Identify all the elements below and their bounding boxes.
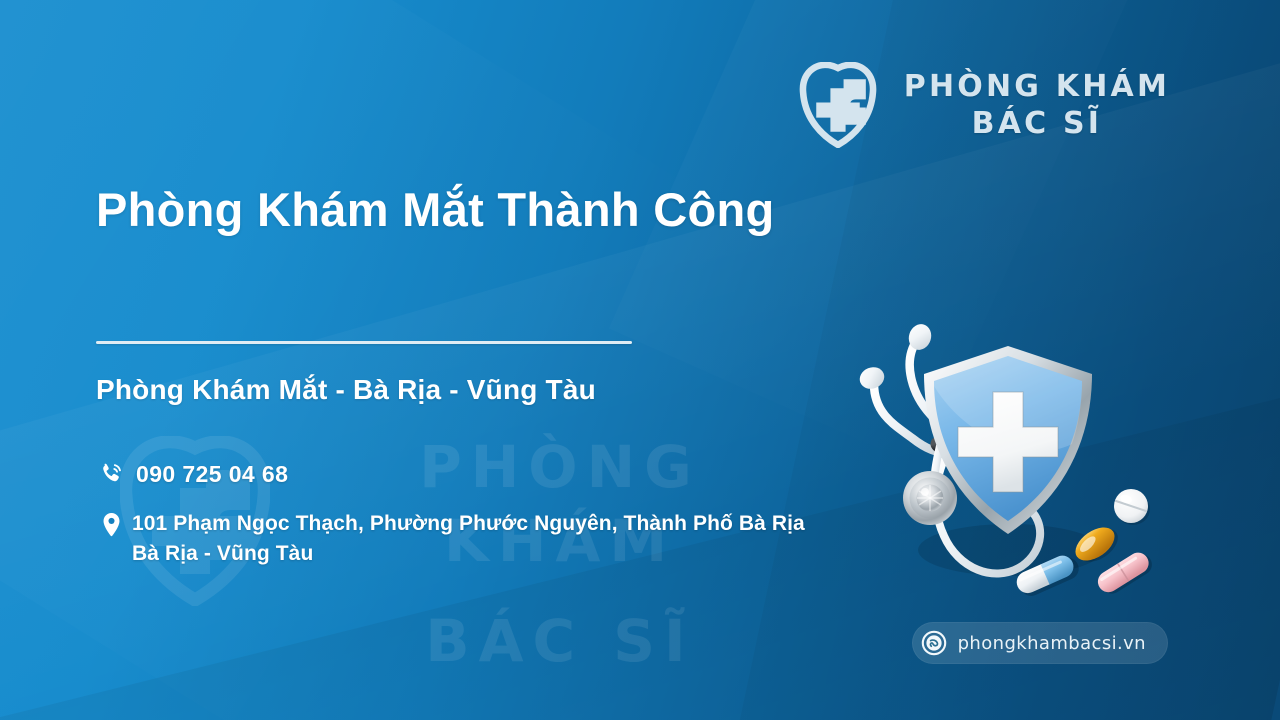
banner-content: Phòng Khám Mắt Thành Công Phòng Khám Mắt…	[96, 182, 896, 569]
brand-logo-line-1: PHÒNG KHÁM	[904, 71, 1170, 103]
watermark-line-2: BÁC SĨ	[290, 604, 830, 678]
divider	[96, 341, 632, 344]
clinic-banner: PHÒNG KHÁM BÁC SĨ PHÒNG KHÁM BÁC SĨ Phòn…	[0, 0, 1280, 720]
website-url: phongkhambacsi.vn	[958, 633, 1146, 654]
brand-logo[interactable]: PHÒNG KHÁM BÁC SĨ	[790, 62, 1170, 148]
page-title: Phòng Khám Mắt Thành Công	[96, 182, 896, 237]
address-row[interactable]: 101 Phạm Ngọc Thạch, Phường Phước Nguyên…	[96, 509, 896, 569]
clinic-subtitle: Phòng Khám Mắt - Bà Rịa - Vũng Tàu	[96, 374, 896, 406]
brand-logo-line-2: BÁC SĨ	[904, 108, 1170, 140]
round-tablet-pill	[1114, 489, 1150, 525]
phone-call-icon	[96, 459, 126, 489]
medical-cross-heart-emblem-icon	[790, 62, 886, 148]
brand-logo-text: PHÒNG KHÁM BÁC SĨ	[904, 71, 1170, 140]
phone-row[interactable]: 090 725 04 68	[96, 458, 896, 491]
address-text: 101 Phạm Ngọc Thạch, Phường Phước Nguyên…	[132, 509, 805, 569]
globe-icon	[921, 630, 947, 656]
map-pin-icon	[96, 510, 126, 540]
medical-illustration	[838, 322, 1168, 622]
website-badge[interactable]: phongkhambacsi.vn	[912, 622, 1168, 664]
phone-number: 090 725 04 68	[136, 458, 288, 491]
